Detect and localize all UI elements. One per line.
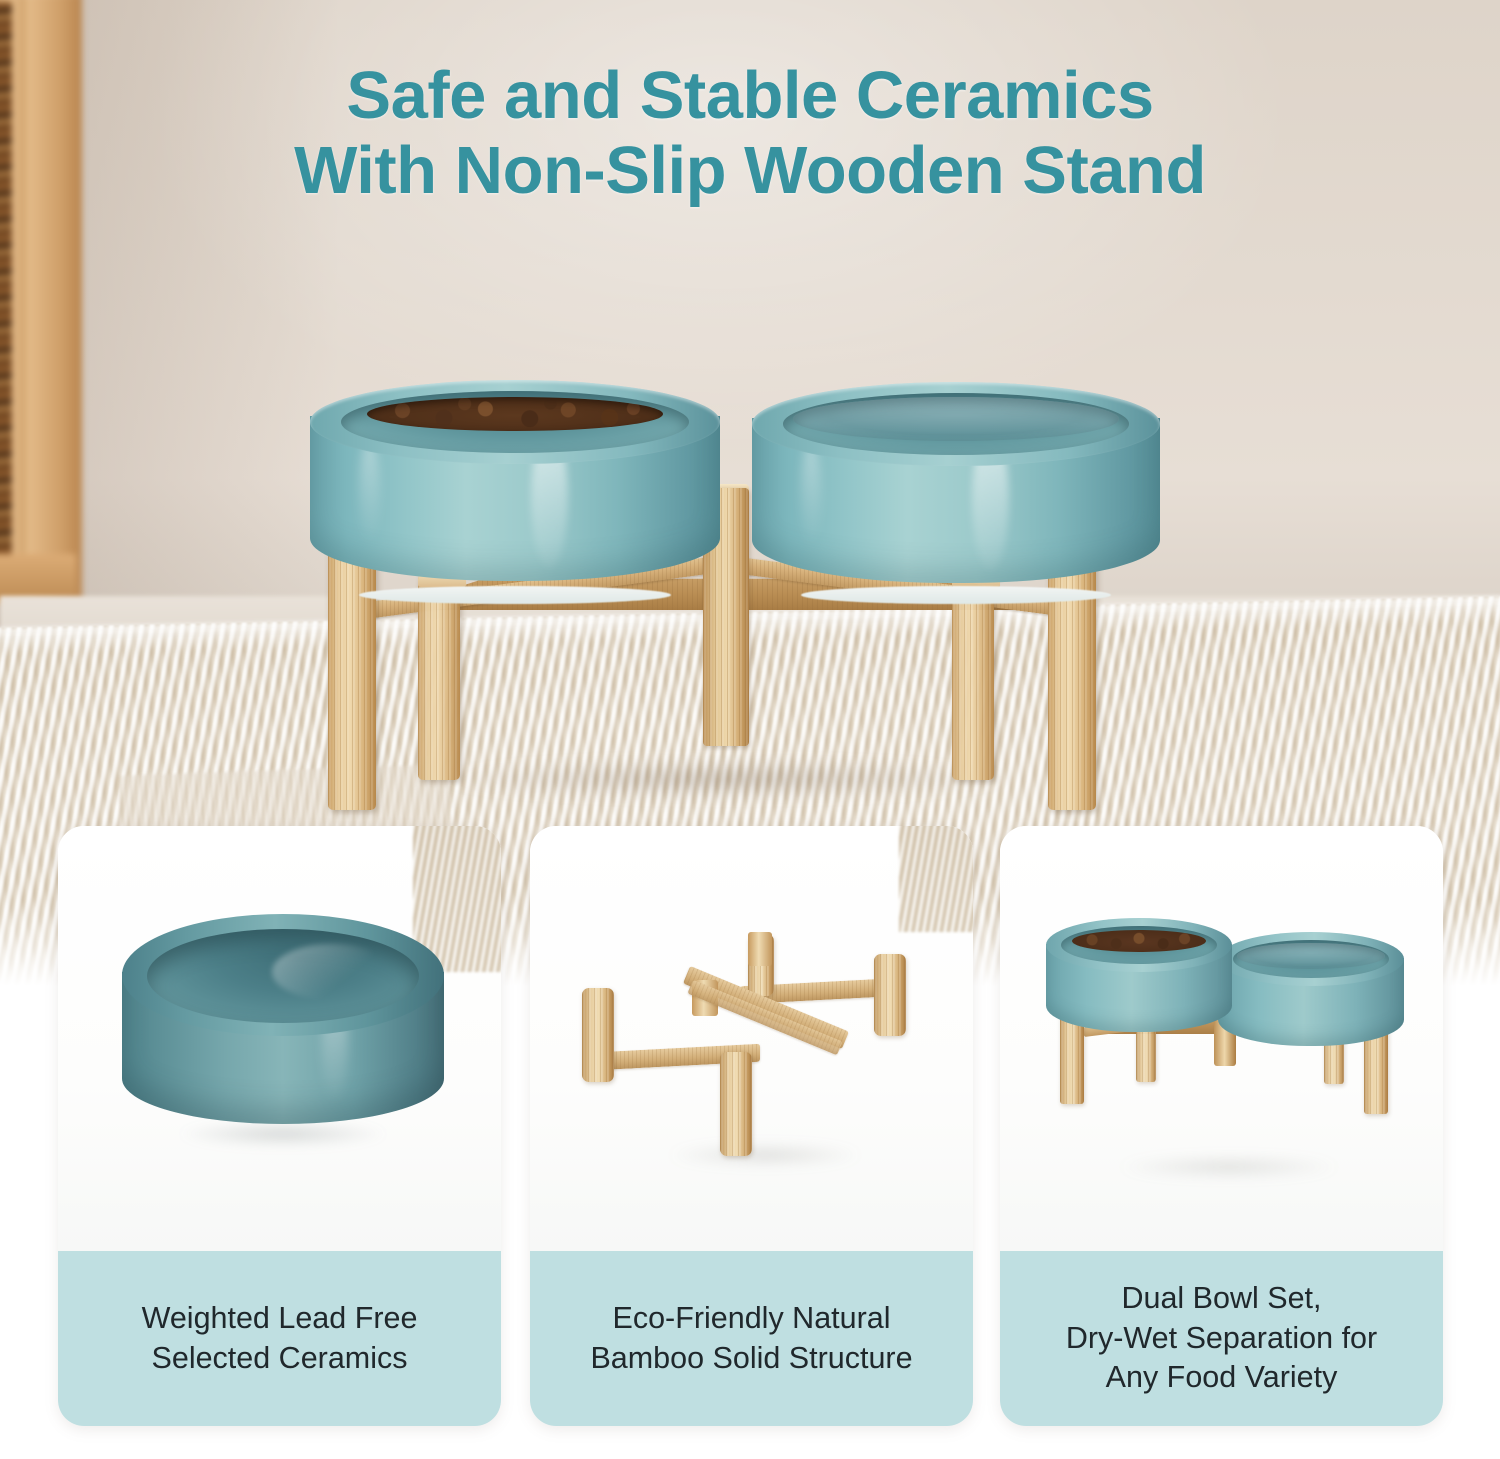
feature-card-ceramics[interactable]: Weighted Lead Free Selected Ceramics (58, 826, 501, 1426)
bamboo-stand-frame (552, 936, 952, 1168)
page-title: Safe and Stable Ceramics With Non-Slip W… (0, 58, 1500, 208)
set-bowl-food (1046, 918, 1232, 1036)
stand-leg-right (874, 954, 906, 1036)
dual-bowl-set-photo (1000, 826, 1443, 1251)
hero-bowl-left-food (310, 380, 720, 595)
caption-line: Bamboo Solid Structure (590, 1339, 912, 1379)
caption-line: Selected Ceramics (142, 1339, 418, 1379)
feature-card-dual-bowl[interactable]: Dual Bowl Set, Dry-Wet Separation for An… (1000, 826, 1443, 1426)
caption-line: Any Food Variety (1066, 1358, 1377, 1398)
bamboo-stand-photo (530, 826, 973, 1251)
single-ceramic-bowl-photo (58, 826, 501, 1251)
caption-line: Weighted Lead Free (142, 1299, 418, 1339)
hero-product-double-bowl-stand (300, 380, 1150, 810)
caption-line: Dry-Wet Separation for (1066, 1319, 1377, 1359)
headline-line-2: With Non-Slip Wooden Stand (0, 133, 1500, 208)
card-caption-dual-bowl: Dual Bowl Set, Dry-Wet Separation for An… (1000, 1251, 1443, 1426)
hero-bowl-right-water (752, 382, 1160, 595)
card-caption-bamboo: Eco-Friendly Natural Bamboo Solid Struct… (530, 1251, 973, 1426)
water-surface (793, 397, 1119, 441)
card-caption-ceramics: Weighted Lead Free Selected Ceramics (58, 1251, 501, 1426)
kibble-food (1072, 930, 1206, 952)
water-surface (1237, 943, 1386, 969)
caption-line: Dual Bowl Set, (1066, 1279, 1377, 1319)
headline-line-1: Safe and Stable Ceramics (0, 58, 1500, 133)
feature-card-row: Weighted Lead Free Selected Ceramics (0, 826, 1500, 1446)
kibble-food (367, 397, 662, 431)
dual-bowl-set (1036, 918, 1416, 1168)
stand-leg-left (582, 988, 614, 1082)
product-feature-banner: Safe and Stable Ceramics With Non-Slip W… (0, 0, 1500, 1459)
feature-card-bamboo[interactable]: Eco-Friendly Natural Bamboo Solid Struct… (530, 826, 973, 1426)
rug-corner-peek (899, 826, 973, 932)
stand-upright-rear (748, 932, 772, 966)
set-bowl-water (1218, 932, 1404, 1050)
stand-leg-front-center (720, 1052, 752, 1156)
ceramic-bowl (122, 914, 444, 1139)
caption-line: Eco-Friendly Natural (590, 1299, 912, 1339)
